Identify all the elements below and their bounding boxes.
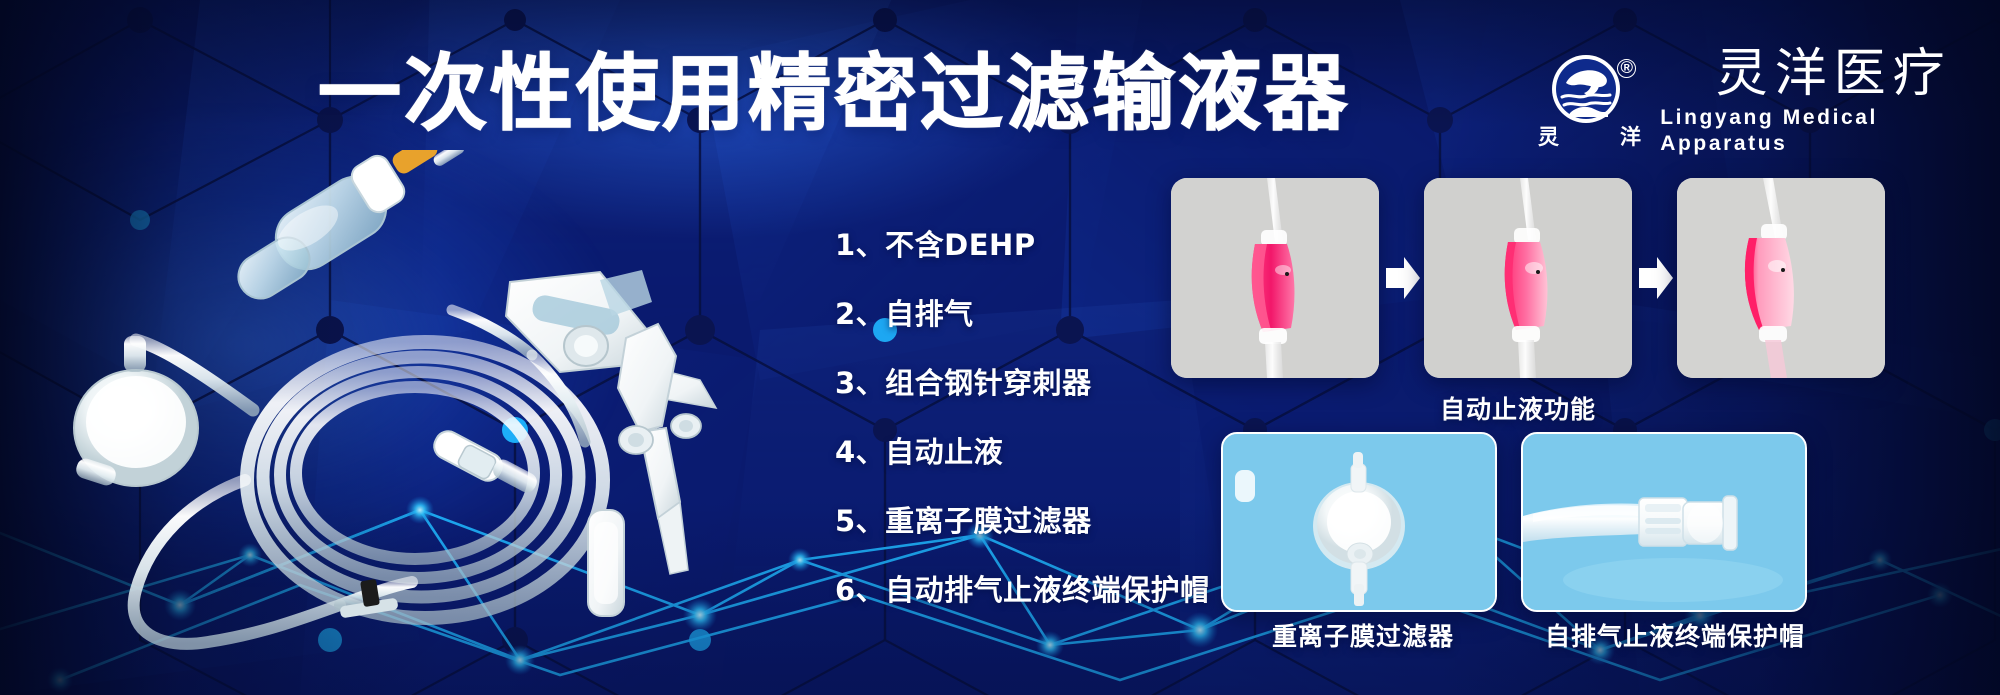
feature-item-3: 3、组合钢针穿刺器: [835, 366, 1210, 400]
product-photo-protective-cap[interactable]: [1521, 432, 1807, 612]
feature-list: 1、不含DEHP 2、自排气 3、组合钢针穿刺器 4、自动止液 5、重离子膜过滤…: [835, 228, 1210, 607]
logo-wordmark: 灵洋医疗 Lingyang Medical Apparatus: [1660, 45, 2000, 157]
feature-item-5: 5、重离子膜过滤器: [835, 504, 1210, 538]
auto-stop-photo-3: [1677, 178, 1885, 378]
sequence-arrow-1: [1386, 255, 1420, 301]
feature-item-4: 4、自动止液: [835, 435, 1210, 469]
feature-item-6: 6、自动排气止液终端保护帽: [835, 573, 1210, 607]
logo-emblem-char-right: 洋: [1620, 121, 1642, 151]
caption-heavy-ion-filter: 重离子膜过滤器: [1272, 622, 1454, 652]
auto-stop-frame-2[interactable]: [1424, 178, 1632, 378]
auto-stop-photo-2: [1424, 178, 1632, 378]
caption-protective-cap: 自排气止液终端保护帽: [1545, 622, 1805, 652]
hero-drip-chamber: [230, 150, 466, 307]
auto-stop-frame-1[interactable]: [1171, 178, 1379, 378]
company-name-en: Lingyang Medical Apparatus: [1660, 105, 2000, 157]
sequence-arrow-2: [1639, 255, 1673, 301]
heavy-ion-filter-photo: [1223, 434, 1495, 610]
hero-protective-cap: [588, 510, 624, 616]
page-title: 一次性使用精密过滤输液器: [318, 46, 1350, 142]
feature-item-1: 1、不含DEHP: [835, 228, 1210, 262]
product-photo-heavy-ion-filter[interactable]: [1221, 432, 1497, 612]
brand-logo[interactable]: ® 灵 洋 灵洋医疗 Lingyang Medical Apparatus: [1538, 45, 2000, 157]
feature-item-2: 2、自排气: [835, 297, 1210, 331]
product-banner: 一次性使用精密过滤输液器 ® 灵 洋 灵洋医疗 Lingyang Medical…: [0, 0, 2000, 695]
company-name-cn: 灵洋医疗: [1709, 45, 1952, 103]
hero-product-image: [40, 150, 830, 670]
logo-mark: ® 灵 洋: [1538, 53, 1638, 149]
protective-cap-photo: [1523, 434, 1805, 610]
logo-emblem-char-left: 灵: [1538, 121, 1560, 151]
caption-auto-stop-function: 自动止液功能: [1440, 395, 1596, 425]
auto-stop-frame-3[interactable]: [1677, 178, 1885, 378]
auto-stop-photo-1: [1171, 178, 1379, 378]
